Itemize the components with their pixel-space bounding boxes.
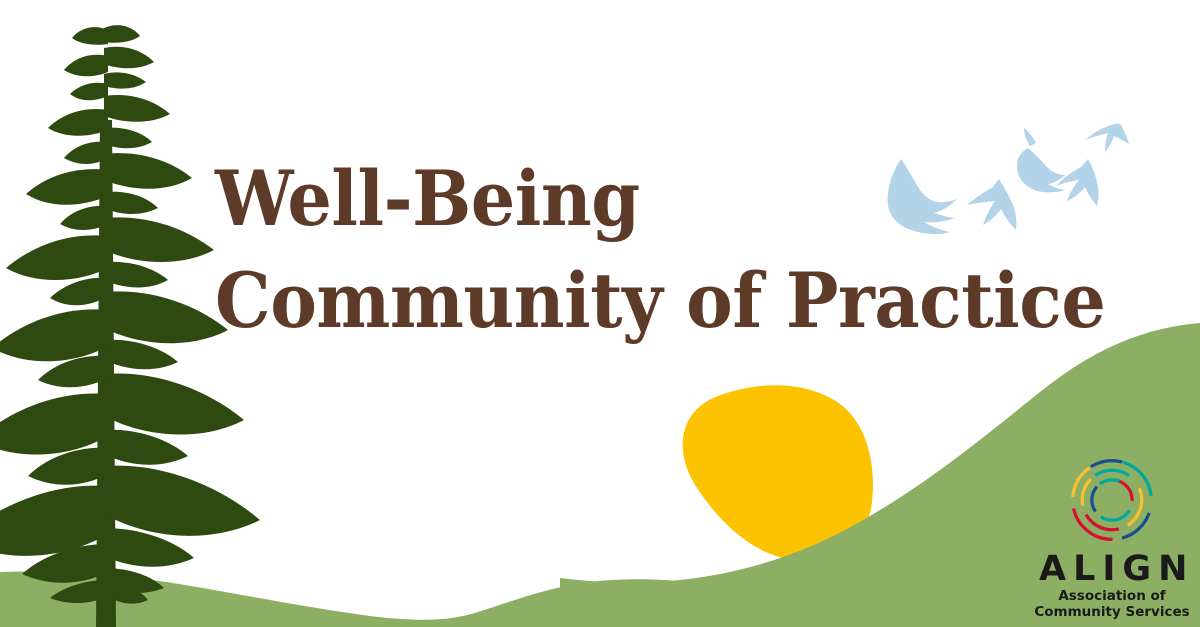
align-concentric-arcs-logo-icon	[1064, 452, 1160, 548]
page-title: Well-Being Community of Practice	[215, 148, 1075, 352]
align-tagline-line-1: Association of	[1032, 588, 1192, 604]
bird-icon-4	[1085, 124, 1129, 152]
align-logo[interactable]: ALIGN Association of Community Services	[1032, 452, 1192, 620]
title-line-2: Community of Practice	[215, 250, 1006, 352]
align-wordmark: ALIGN	[1032, 550, 1192, 588]
align-tagline-line-2: Community Services	[1032, 604, 1192, 620]
title-line-1: Well-Being	[215, 148, 1006, 250]
banner-graphic: Well-Being Community of Practice	[0, 0, 1200, 627]
